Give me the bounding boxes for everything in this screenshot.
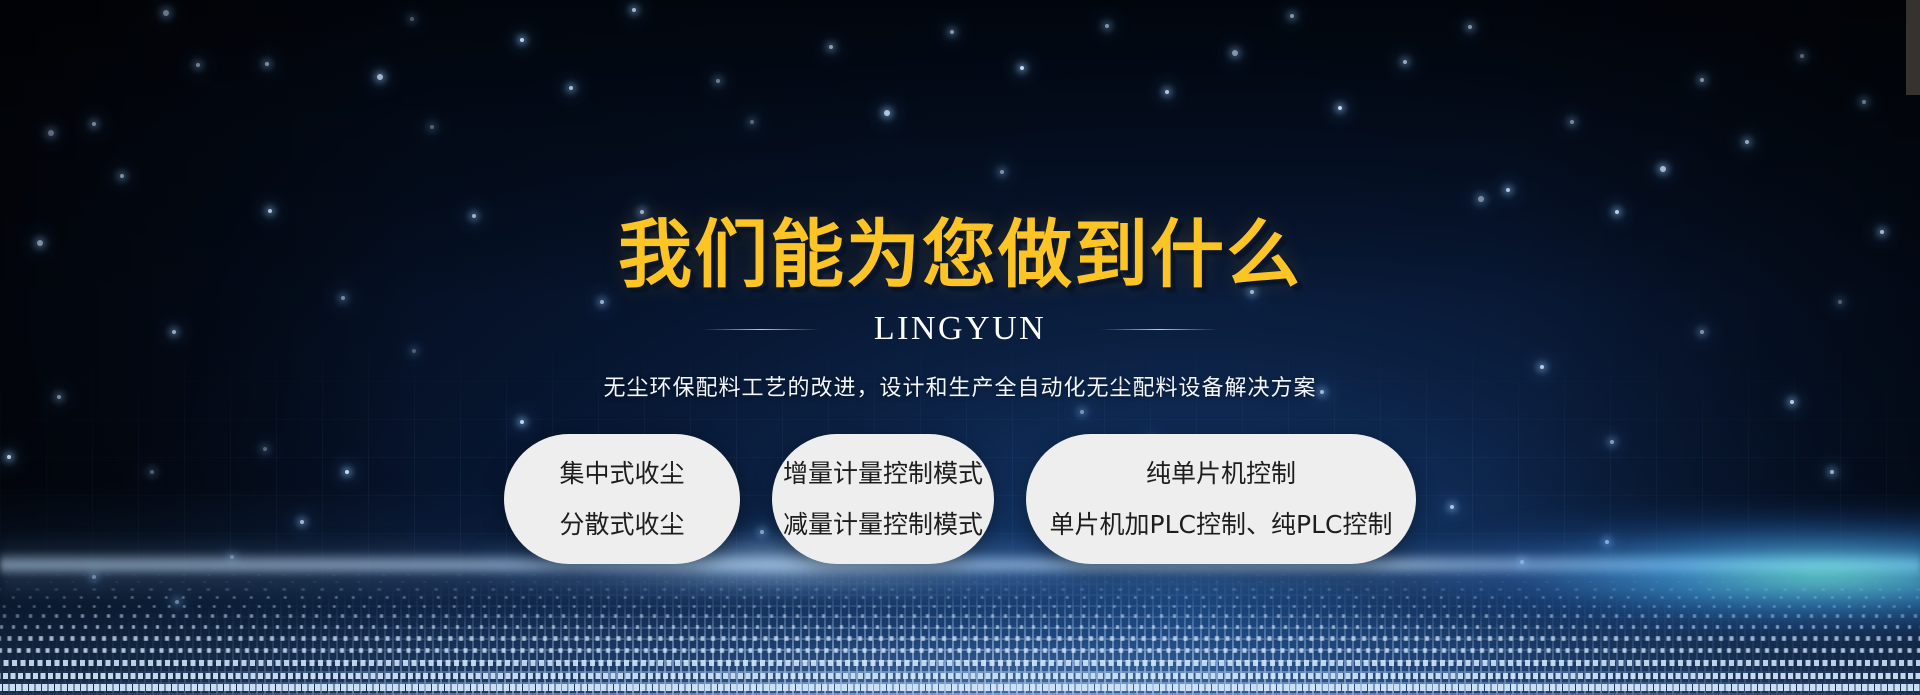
subtitle: 无尘环保配料工艺的改进，设计和生产全自动化无尘配料设备解决方案 — [603, 370, 1316, 402]
feature-card-control-system[interactable]: 纯单片机控制 单片机加PLC控制、纯PLC控制 — [1026, 434, 1416, 564]
page-title: 我们能为您做到什么 — [618, 218, 1302, 292]
feature-card-metering-mode[interactable]: 增量计量控制模式 减量计量控制模式 — [772, 434, 994, 564]
brand-name: LINGYUN — [874, 310, 1046, 348]
divider-left — [702, 329, 820, 330]
brand-row: LINGYUN — [702, 310, 1218, 348]
feature-card-dust-collection[interactable]: 集中式收尘 分散式收尘 — [504, 434, 740, 564]
banner-content: 我们能为您做到什么 LINGYUN 无尘环保配料工艺的改进，设计和生产全自动化无… — [0, 0, 1920, 695]
feature-card-line-2: 减量计量控制模式 — [783, 512, 983, 537]
divider-right — [1100, 329, 1218, 330]
feature-card-line-1: 纯单片机控制 — [1146, 461, 1296, 486]
feature-card-line-1: 增量计量控制模式 — [783, 461, 983, 486]
feature-card-line-1: 集中式收尘 — [559, 461, 684, 486]
feature-card-line-2: 分散式收尘 — [559, 512, 684, 537]
feature-card-line-2: 单片机加PLC控制、纯PLC控制 — [1050, 512, 1393, 537]
hero-banner: 我们能为您做到什么 LINGYUN 无尘环保配料工艺的改进，设计和生产全自动化无… — [0, 0, 1920, 695]
feature-card-list: 集中式收尘 分散式收尘 增量计量控制模式 减量计量控制模式 纯单片机控制 单片机… — [504, 434, 1416, 564]
